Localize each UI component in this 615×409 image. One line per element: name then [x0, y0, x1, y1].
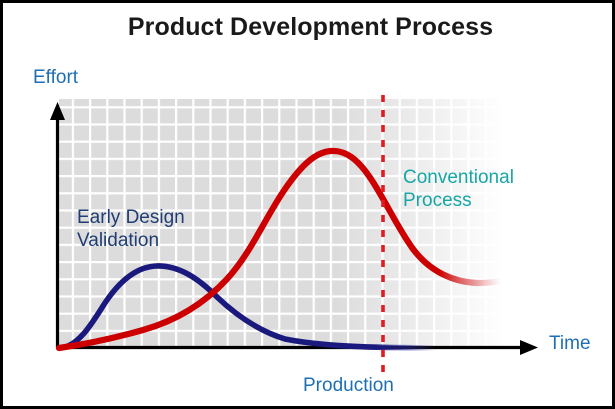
y-axis-label: Effort [33, 67, 78, 89]
early-design-validation-label: Early Design Validation [77, 206, 185, 252]
chart-figure: Product Development Process [0, 0, 615, 409]
x-axis-label: Time [549, 333, 591, 355]
production-label: Production [303, 375, 394, 397]
conventional-process-label: Conventional Process [403, 166, 514, 212]
